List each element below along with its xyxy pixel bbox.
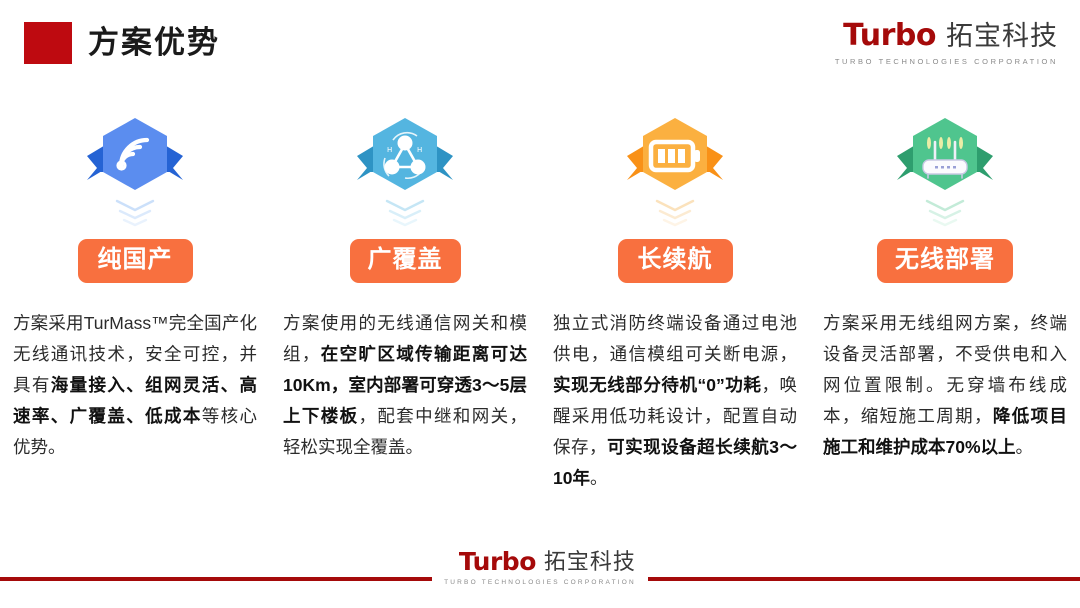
brand-logo-header: Turbo 拓宝科技 TURBO TECHNOLOGIES CORPORATIO… (835, 20, 1058, 66)
advantage-tag: 纯国产 (78, 239, 193, 283)
slide-header: 方案优势 Turbo 拓宝科技 TURBO TECHNOLOGIES CORPO… (0, 0, 1080, 90)
icon-area (820, 100, 1070, 230)
title-marker (24, 22, 72, 64)
brand-name-cn: 拓宝科技 (544, 548, 636, 575)
advantage-column: 长续航 独立式消防终端设备通过电池供电，通信模组可关断电源，实现无线部分待机“0… (540, 100, 810, 540)
advantage-columns: 纯国产 方案采用TurMass™完全国产化无线通讯技术，安全可控，并具有海量接入… (0, 100, 1080, 540)
chevron-shadow-icon (105, 196, 165, 232)
page-title: 方案优势 (88, 20, 220, 66)
advantage-tag: 无线部署 (877, 239, 1013, 283)
brand-name-en: Turbo (843, 20, 936, 52)
icon-area (550, 100, 800, 230)
icon-area: H H (280, 100, 530, 230)
icon-area (10, 100, 260, 230)
advantage-tag: 广覆盖 (350, 239, 461, 283)
tag-row: 无线部署 (820, 230, 1070, 292)
advantage-tag: 长续航 (618, 239, 733, 283)
svg-text:H: H (417, 146, 422, 154)
wireless-router-badge-icon (885, 108, 1005, 208)
advantage-column: H H 广覆盖 方案使用的无线通信网关和模组，在空旷区域传输距离可达10Km，室… (270, 100, 540, 540)
brand-logo-footer: Turbo 拓宝科技 TURBO TECHNOLOGIES CORPORATIO… (444, 548, 636, 586)
advantage-column: 无线部署 方案采用无线组网方案，终端设备灵活部署，不受供电和入网位置限制。无穿墙… (810, 100, 1080, 540)
slide-footer: Turbo 拓宝科技 TURBO TECHNOLOGIES CORPORATIO… (0, 546, 1080, 608)
chevron-shadow-icon (915, 196, 975, 232)
wifi-signal-badge-icon (75, 108, 195, 208)
network-nodes-badge-icon: H H (345, 108, 465, 208)
tag-row: 长续航 (550, 230, 800, 292)
advantage-column: 纯国产 方案采用TurMass™完全国产化无线通讯技术，安全可控，并具有海量接入… (0, 100, 270, 540)
chevron-shadow-icon (375, 196, 435, 232)
advantage-body: 方案使用的无线通信网关和模组，在空旷区域传输距离可达10Km，室内部署可穿透3～… (280, 308, 530, 463)
tag-row: 纯国产 (10, 230, 260, 292)
footer-rule-right (648, 577, 1080, 581)
battery-badge-icon (615, 108, 735, 208)
advantage-body: 方案采用无线组网方案，终端设备灵活部署，不受供电和入网位置限制。无穿墙布线成本，… (820, 308, 1070, 463)
brand-tagline: TURBO TECHNOLOGIES CORPORATION (444, 579, 636, 586)
tag-row: 广覆盖 (280, 230, 530, 292)
svg-text:H: H (387, 146, 392, 154)
slide-root: 方案优势 Turbo 拓宝科技 TURBO TECHNOLOGIES CORPO… (0, 0, 1080, 608)
advantage-body: 方案采用TurMass™完全国产化无线通讯技术，安全可控，并具有海量接入、组网灵… (10, 308, 260, 463)
footer-rule-left (0, 577, 432, 581)
brand-name-en: Turbo (459, 548, 536, 575)
advantage-body: 独立式消防终端设备通过电池供电，通信模组可关断电源，实现无线部分待机“0”功耗，… (550, 308, 800, 494)
brand-tagline: TURBO TECHNOLOGIES CORPORATION (835, 57, 1058, 66)
chevron-shadow-icon (645, 196, 705, 232)
brand-name-cn: 拓宝科技 (946, 20, 1058, 52)
